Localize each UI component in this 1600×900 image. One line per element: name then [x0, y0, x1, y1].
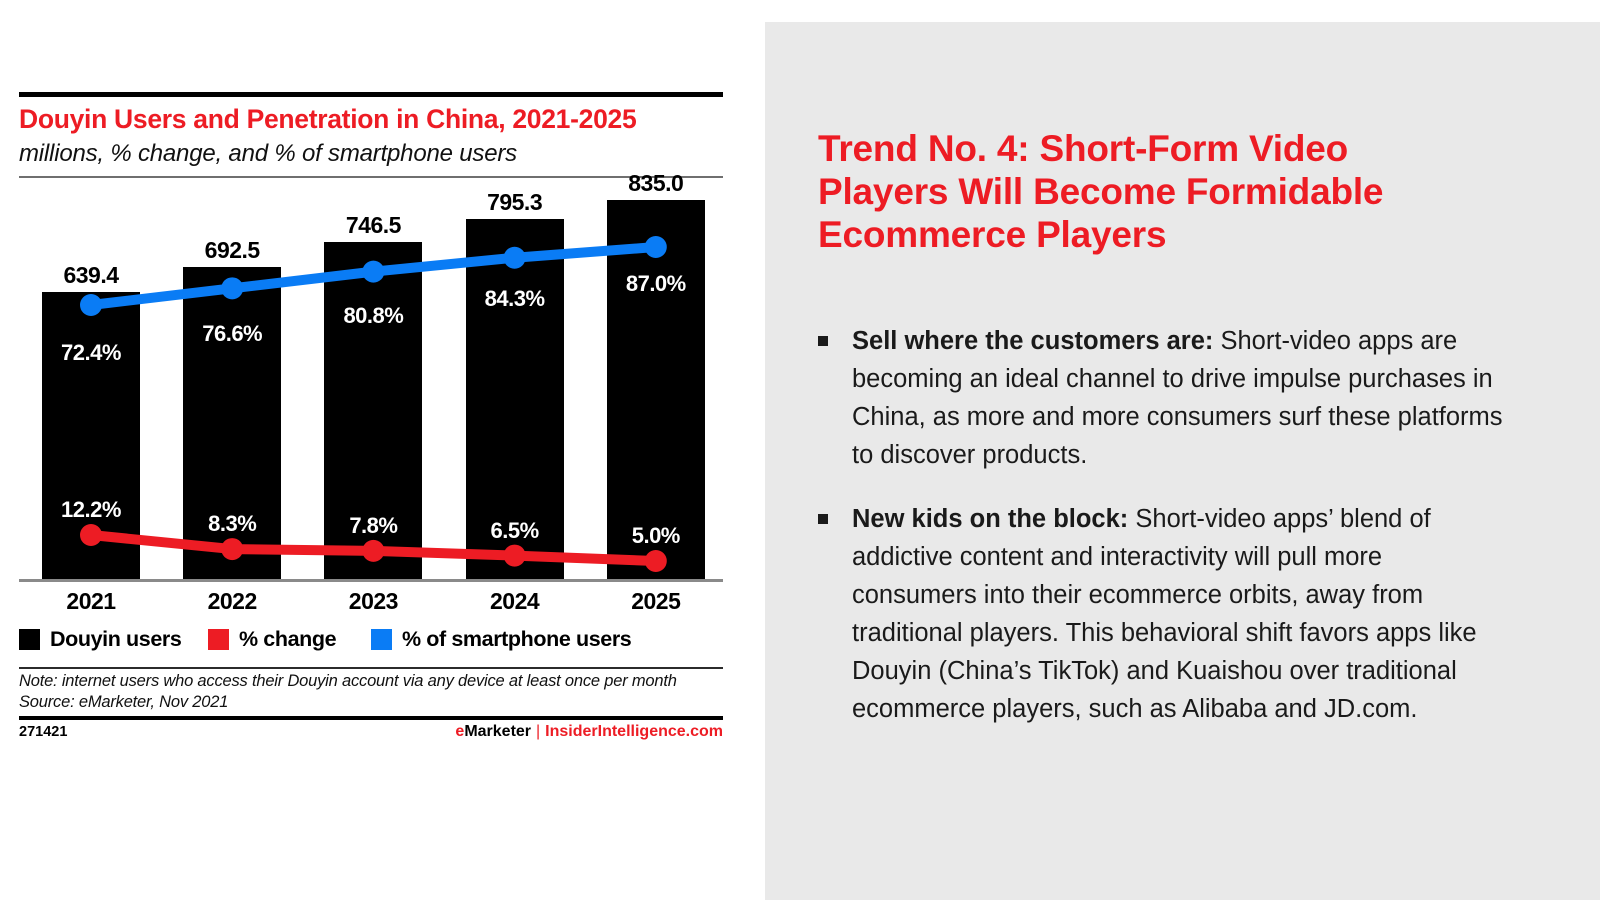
legend-entry-0: Douyin users: [19, 626, 181, 652]
bullet-square-icon: [818, 514, 828, 524]
legend-entry-2: % of smartphone users: [371, 626, 631, 652]
trend-heading: Trend No. 4: Short-Form Video Players Wi…: [818, 127, 1478, 256]
percent-change-label-2024: 6.5%: [455, 518, 575, 544]
title-top-rule: [19, 92, 723, 97]
legend-swatch-icon-1: [208, 629, 229, 650]
bullet-lead-2: New kids on the block:: [852, 505, 1128, 533]
x-axis-line: [19, 579, 723, 582]
smartphone-penetration-marker-2023: [362, 261, 384, 283]
percent-change-marker-2022: [221, 538, 243, 560]
legend-label-0: Douyin users: [50, 627, 181, 652]
brand-e-letter: e: [455, 723, 464, 740]
percent-change-label-2022: 8.3%: [172, 511, 292, 537]
smartphone-penetration-marker-2024: [504, 247, 526, 269]
trend-bullet-list: Sell where the customers are: Short-vide…: [815, 322, 1505, 754]
x-tick-2024: 2024: [455, 588, 575, 615]
x-tick-2023: 2023: [313, 588, 433, 615]
bullet-item-1: Sell where the customers are: Short-vide…: [815, 322, 1505, 474]
note-line: Note: internet users who access their Do…: [19, 671, 729, 692]
percent-change-marker-2025: [645, 550, 667, 572]
bullet-item-2: New kids on the block: Short-video apps’…: [815, 500, 1505, 728]
smartphone-penetration-marker-2021: [80, 294, 102, 316]
legend-swatch-icon-0: [19, 629, 40, 650]
legend-label-2: % of smartphone users: [402, 627, 631, 652]
smartphone-penetration-marker-2022: [221, 277, 243, 299]
x-tick-2022: 2022: [172, 588, 292, 615]
legend-swatch-icon-2: [371, 629, 392, 650]
percent-change-marker-2024: [504, 545, 526, 567]
chart-plot-area: 639.4692.5746.5795.3835.072.4%76.6%80.8%…: [19, 180, 723, 582]
percent-change-label-2021: 12.2%: [31, 497, 151, 523]
note-top-rule: [19, 667, 723, 669]
smartphone-penetration-label-2024: 84.3%: [455, 286, 575, 312]
smartphone-penetration-label-2021: 72.4%: [31, 340, 151, 366]
bullet-lead-1: Sell where the customers are:: [852, 327, 1213, 355]
chart-title: Douyin Users and Penetration in China, 2…: [19, 102, 734, 136]
chart-id-number: 271421: [19, 724, 67, 740]
brand-marketer-word: Marketer: [464, 723, 531, 740]
percent-change-marker-2023: [362, 540, 384, 562]
smartphone-penetration-marker-2025: [645, 236, 667, 258]
footer-top-rule: [19, 716, 723, 720]
chart-card: Douyin Users and Penetration in China, 2…: [0, 0, 765, 900]
legend-entry-1: % change: [208, 626, 336, 652]
percent-change-label-2025: 5.0%: [596, 523, 716, 549]
source-line: Source: eMarketer, Nov 2021: [19, 692, 729, 713]
bullet-body-2: Short-video apps’ blend of addictive con…: [852, 505, 1477, 723]
smartphone-penetration-label-2022: 76.6%: [172, 321, 292, 347]
brand-website[interactable]: InsiderIntelligence.com: [545, 723, 723, 740]
x-tick-2021: 2021: [31, 588, 151, 615]
smartphone-penetration-label-2025: 87.0%: [596, 271, 716, 297]
x-tick-2025: 2025: [596, 588, 716, 615]
legend-label-1: % change: [239, 627, 336, 652]
chart-note: Note: internet users who access their Do…: [19, 671, 729, 713]
percent-change-label-2023: 7.8%: [313, 513, 433, 539]
percent-change-marker-2021: [80, 524, 102, 546]
chart-subtitle: millions, % change, and % of smartphone …: [19, 138, 734, 169]
bullet-square-icon: [818, 336, 828, 346]
brand-attribution: eMarketer|InsiderIntelligence.com: [455, 723, 723, 741]
smartphone-penetration-label-2023: 80.8%: [313, 303, 433, 329]
trend-panel: Trend No. 4: Short-Form Video Players Wi…: [765, 22, 1600, 900]
brand-separator: |: [531, 723, 545, 740]
